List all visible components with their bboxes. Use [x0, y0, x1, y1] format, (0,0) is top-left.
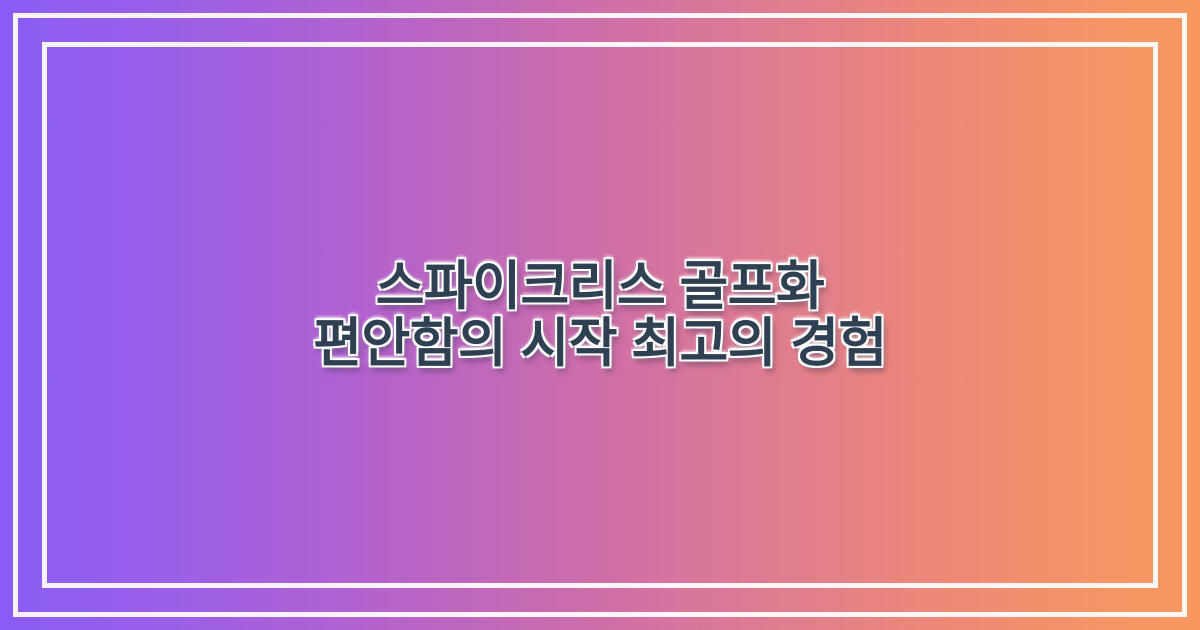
banner-content: 스파이크리스 골프화 편안함의 시작 최고의 경험	[0, 0, 1200, 630]
banner-headline: 스파이크리스 골프화 편안함의 시작 최고의 경험	[280, 258, 920, 372]
banner-card: 스파이크리스 골프화 편안함의 시작 최고의 경험	[0, 0, 1200, 630]
